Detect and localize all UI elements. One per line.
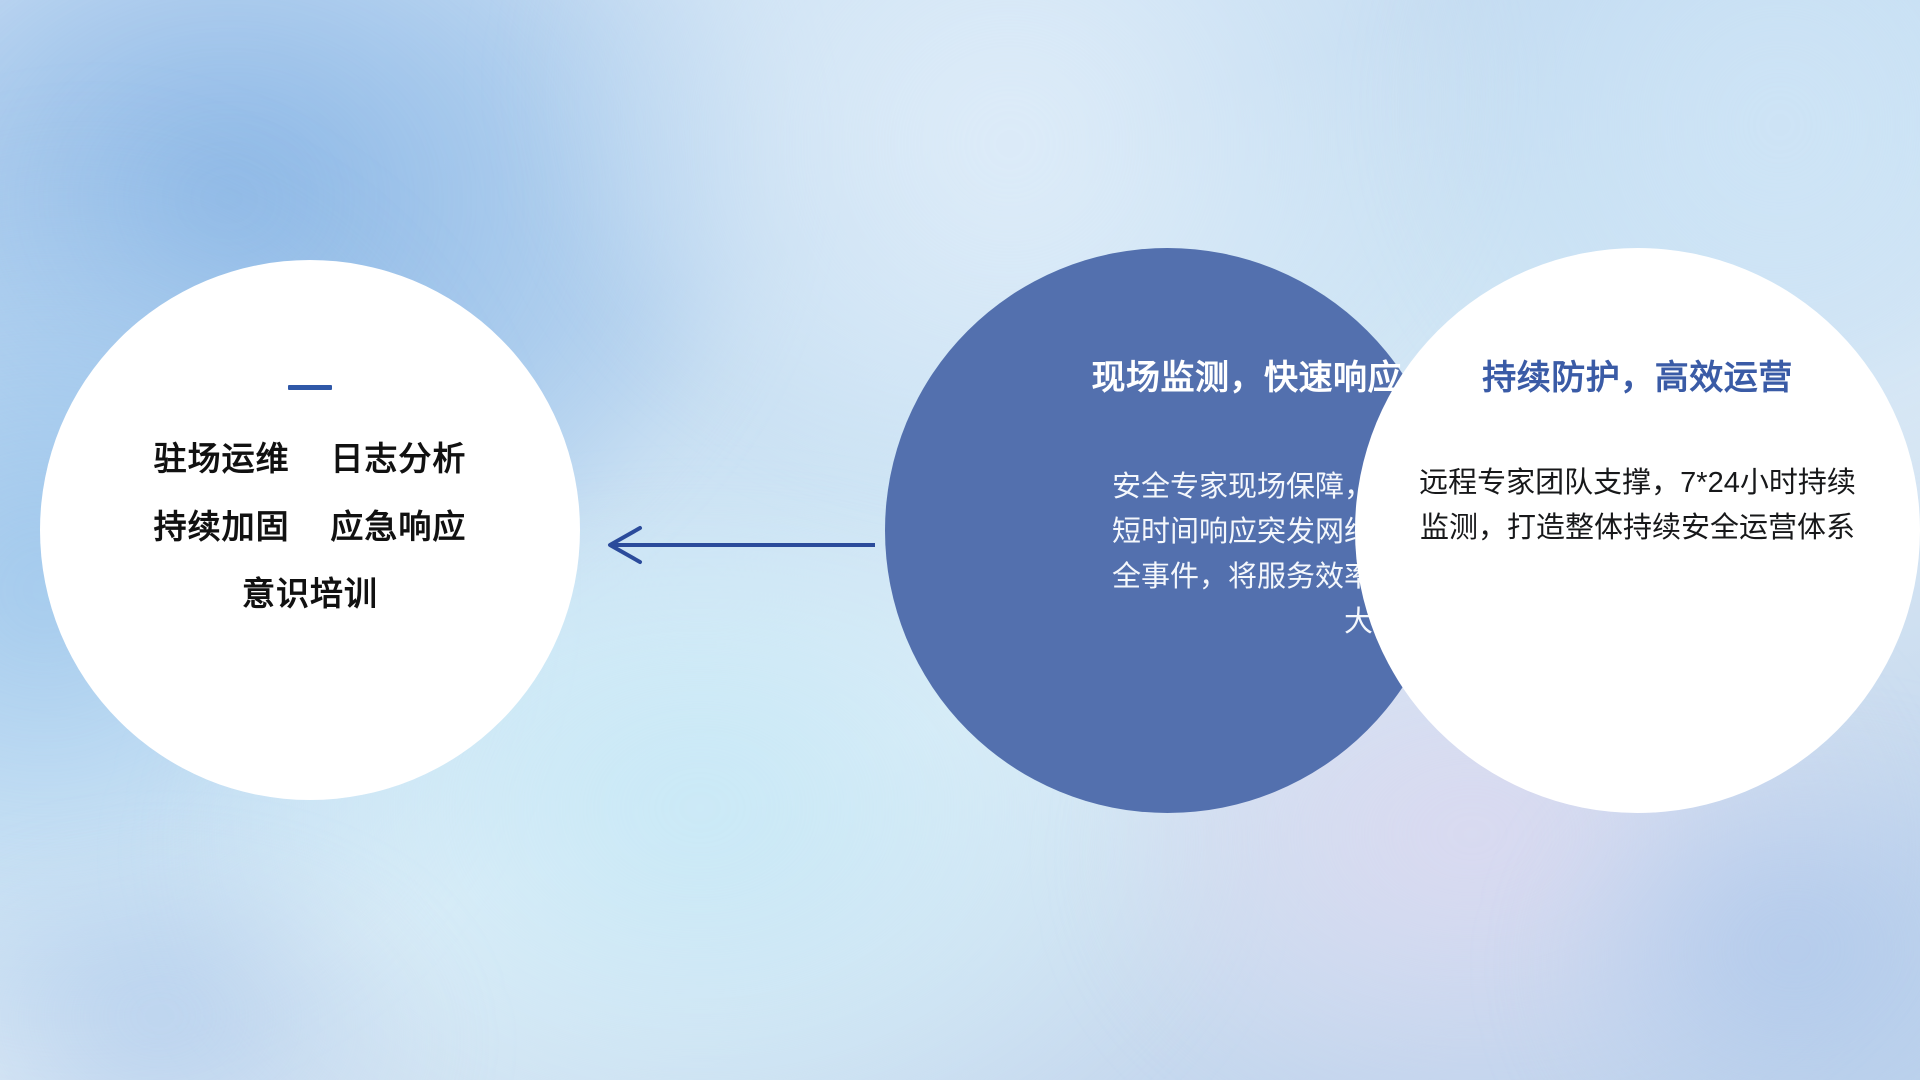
node-remote-body: 远程专家团队支撑，7*24小时持续监测，打造整体持续安全运营体系 bbox=[1418, 461, 1858, 551]
section-divider bbox=[288, 385, 332, 390]
node-capabilities-circle[interactable]: 驻场运维 日志分析 持续加固 应急响应 意识培训 bbox=[40, 260, 580, 800]
node-capabilities-content: 驻场运维 日志分析 持续加固 应急响应 意识培训 bbox=[40, 260, 580, 800]
node-remote-circle[interactable]: 持续防护，高效运营 远程专家团队支撑，7*24小时持续监测，打造整体持续安全运营… bbox=[1355, 248, 1920, 813]
capability-line-2: 持续加固 应急响应 bbox=[154, 510, 467, 545]
node-remote-title: 持续防护，高效运营 bbox=[1482, 350, 1793, 399]
capability-line-3: 意识培训 bbox=[242, 577, 378, 612]
capability-line-1: 驻场运维 日志分析 bbox=[154, 442, 467, 477]
node-remote-content: 持续防护，高效运营 远程专家团队支撑，7*24小时持续监测，打造整体持续安全运营… bbox=[1355, 248, 1920, 813]
flow-arrow-group bbox=[610, 528, 875, 562]
slide-canvas: 现场监测，快速响应 安全专家现场保障，最短时间响应突发网络安全事件，将服务效率最… bbox=[0, 0, 1920, 1080]
